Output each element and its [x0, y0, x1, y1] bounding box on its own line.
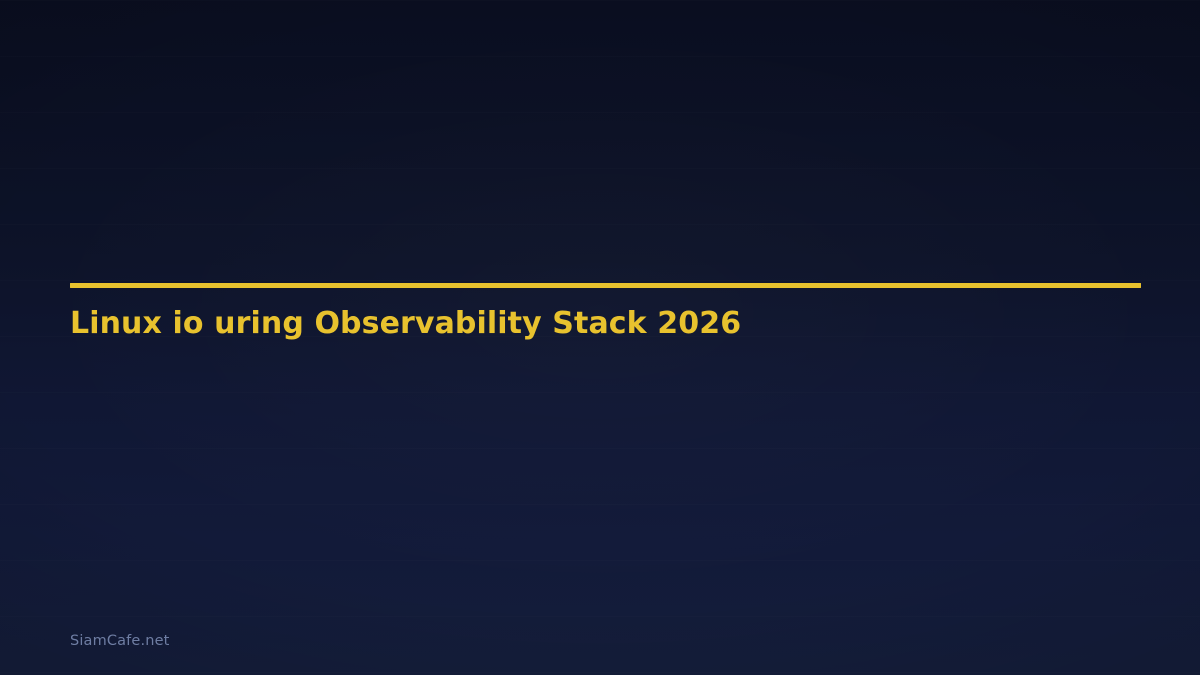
footer-brand-label: SiamCafe.net: [70, 634, 169, 649]
title-slide: Linux io uring Observability Stack 2026 …: [0, 0, 1200, 675]
title-block: Linux io uring Observability Stack 2026: [70, 283, 1141, 341]
page-title: Linux io uring Observability Stack 2026: [70, 288, 1141, 341]
footer: SiamCafe.net: [70, 634, 169, 649]
